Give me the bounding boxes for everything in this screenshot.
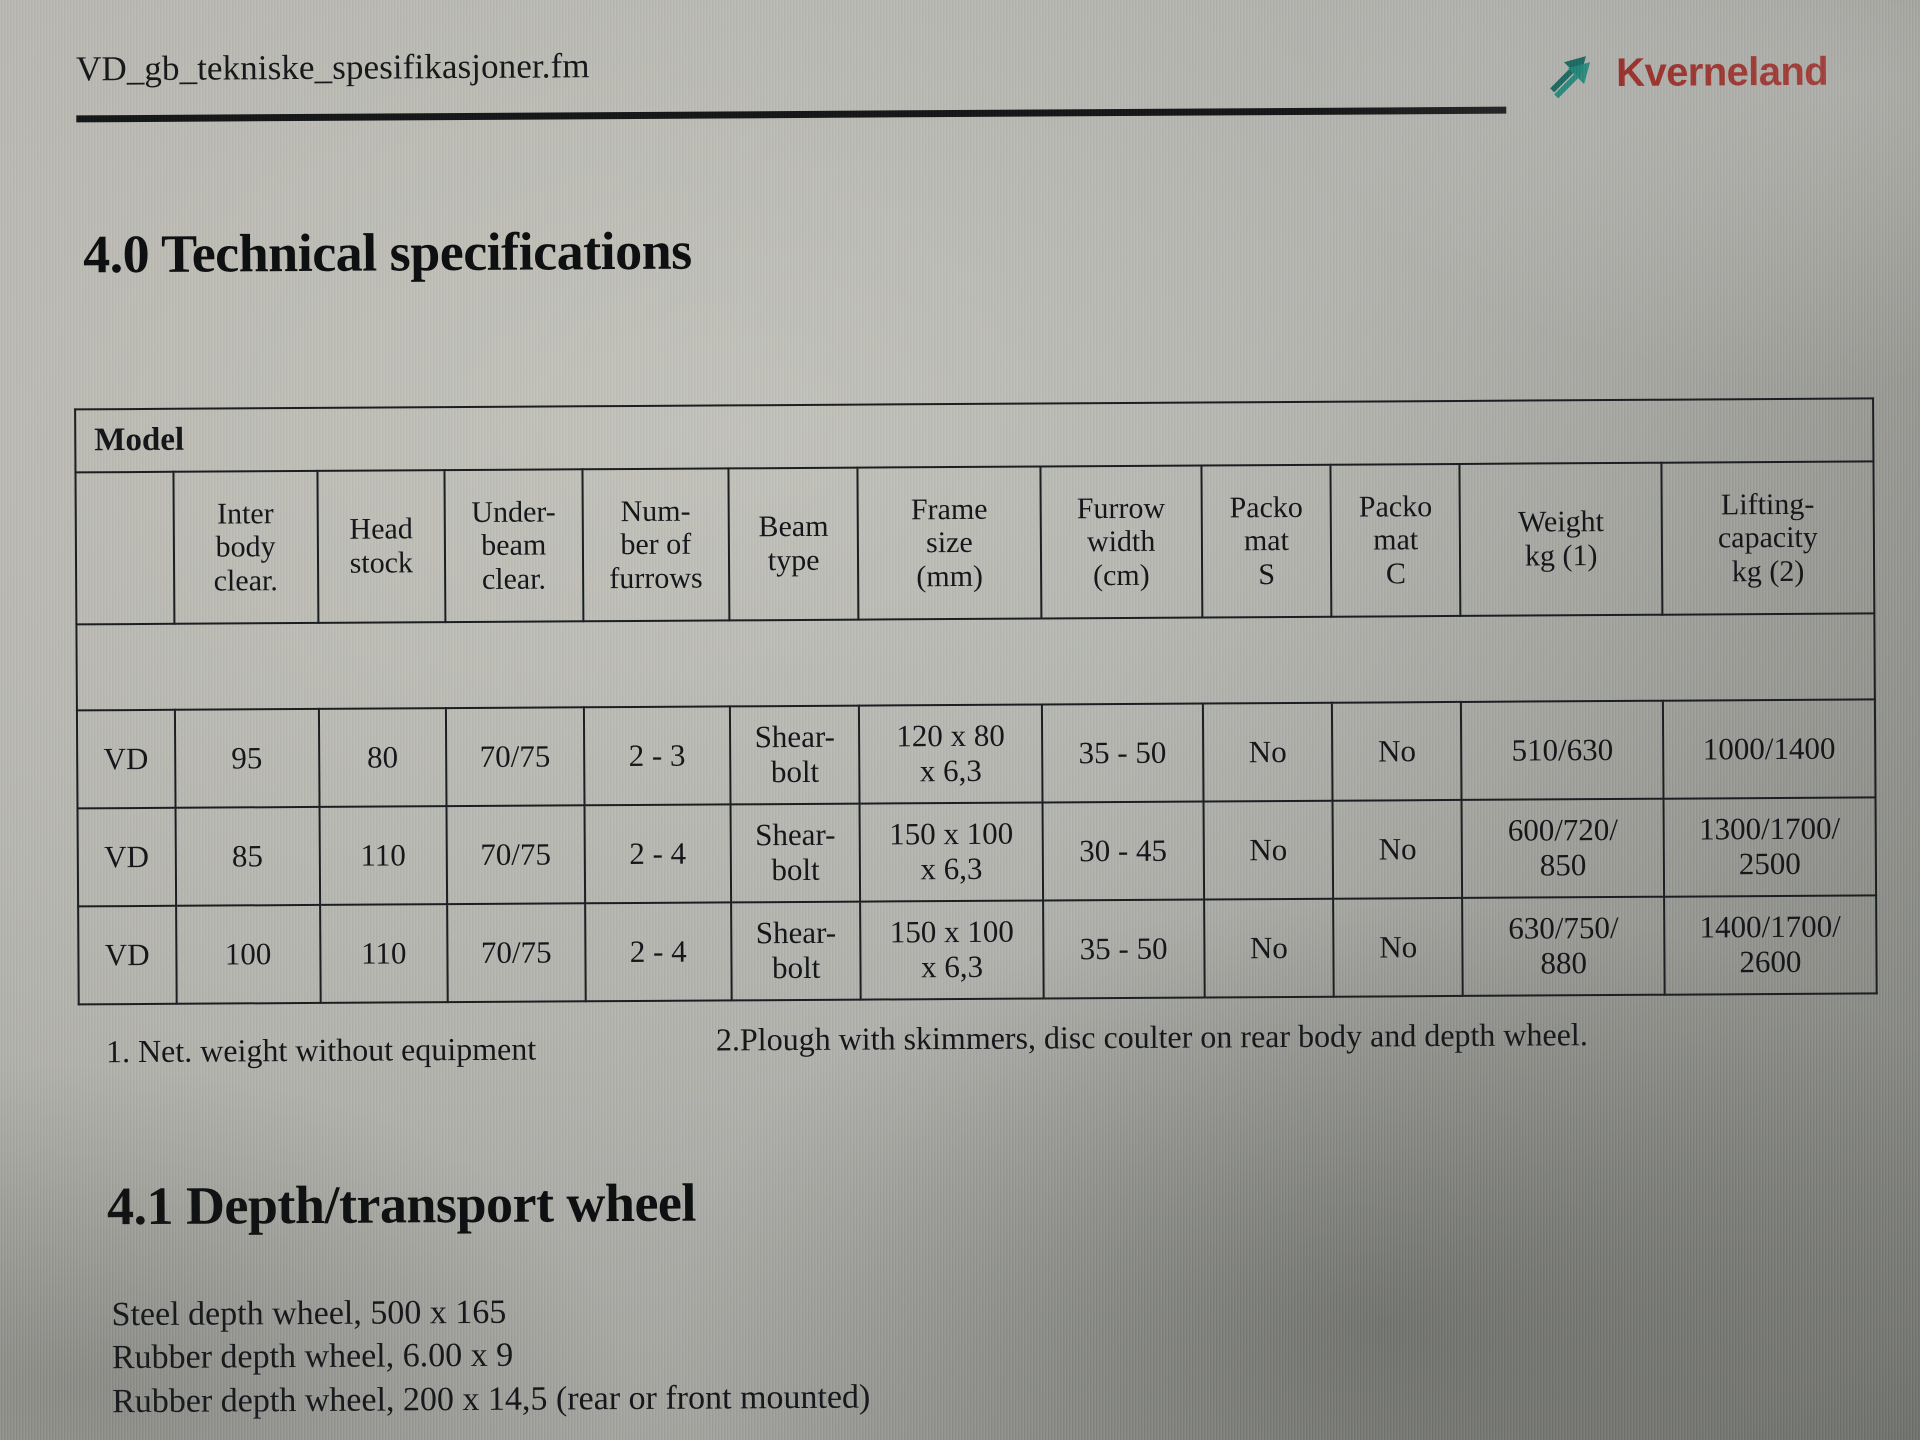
cell-line: 1300/1700/ (1666, 812, 1872, 848)
header-line: mat (1336, 523, 1456, 557)
header-line: width (1046, 525, 1197, 560)
cell-line: 150 x 100 (864, 915, 1041, 951)
cell-head-stock: 80 (319, 708, 447, 807)
section-heading-technical-specifications: 4.0 Technical specifications (83, 220, 692, 286)
cell-line: 2600 (1667, 944, 1873, 980)
cell-packo-mat-s: No (1204, 899, 1334, 998)
cell-inter-body-clear: 100 (176, 905, 321, 1004)
header-line: S (1207, 558, 1327, 592)
column-header-packo-mat-s: Packo mat S (1201, 465, 1331, 618)
cell-packo-mat-c: No (1333, 800, 1463, 899)
header-line: clear. (450, 562, 578, 596)
column-header-weight: Weight kg (1) (1460, 463, 1662, 616)
cell-beam-type: Shear- bolt (730, 706, 860, 805)
cell-lifting-capacity: 1300/1700/ 2500 (1663, 797, 1876, 896)
cell-beam-type: Shear- bolt (731, 804, 861, 903)
cell-model: VD (78, 906, 176, 1005)
table-model-label: Model (75, 398, 1873, 472)
header-line: type (734, 544, 854, 578)
cell-lifting-capacity: 1400/1700/ 2600 (1664, 895, 1877, 994)
cell-frame-size: 120 x 80 x 6,3 (859, 704, 1042, 803)
cell-packo-mat-c: No (1333, 898, 1463, 997)
header-line: C (1336, 557, 1456, 591)
column-header-number-of-furrows: Num- ber of furrows (582, 468, 729, 621)
table-row: VD 100 110 70/75 2 - 4 Shear- bolt 150 x… (78, 895, 1877, 1004)
list-item: Steel depth wheel, 500 x 165 (111, 1291, 869, 1335)
header-line: size (863, 526, 1036, 561)
header-line: Under- (450, 495, 578, 529)
header-line: Packo (1206, 490, 1326, 524)
header-line: Weight (1465, 505, 1657, 540)
kverneland-arrow-icon (1544, 42, 1606, 104)
cell-inter-body-clear: 85 (175, 807, 320, 906)
specifications-table: Model Inter body clear. Head stock Under… (74, 397, 1878, 1005)
column-header-under-beam-clear: Under- beam clear. (444, 469, 583, 622)
cell-line: 880 (1466, 946, 1662, 982)
table-model-row: Model (75, 398, 1873, 472)
document-content: VD_gb_tekniske_spesifikasjoner.fm Kverne… (0, 0, 1920, 1440)
brand-name: Kverneland (1616, 49, 1828, 95)
cell-line: 850 (1465, 848, 1661, 884)
section-heading-depth-transport-wheel: 4.1 Depth/transport wheel (107, 1172, 696, 1238)
cell-number-of-furrows: 2 - 4 (585, 902, 732, 1001)
header-line: body (178, 530, 312, 564)
cell-furrow-width: 35 - 50 (1042, 703, 1204, 802)
cell-weight: 600/720/ 850 (1462, 799, 1664, 898)
cell-line: bolt (733, 755, 857, 790)
cell-line: 1000/1400 (1666, 731, 1872, 767)
cell-frame-size: 150 x 100 x 6,3 (860, 802, 1043, 901)
header-line: furrows (588, 561, 724, 595)
cell-line: 1400/1700/ (1667, 910, 1873, 946)
header-line: beam (450, 528, 578, 562)
column-header-lifting-capacity: Lifting- capacity kg (2) (1661, 461, 1874, 614)
column-header-frame-size: Frame size (mm) (858, 466, 1041, 619)
cell-weight: 510/630 (1461, 701, 1663, 800)
cell-line: 120 x 80 (862, 719, 1039, 755)
footnote-1: 1. Net. weight without equipment (106, 1031, 536, 1071)
cell-line: 2500 (1667, 846, 1873, 882)
cell-packo-mat-s: No (1203, 801, 1333, 900)
cell-line: x 6,3 (863, 851, 1040, 887)
header-line: kg (1) (1465, 539, 1657, 574)
column-header-model (75, 472, 173, 625)
cell-line: 630/750/ (1466, 911, 1662, 947)
header-line: (cm) (1046, 558, 1197, 593)
cell-model: VD (77, 710, 175, 809)
cell-head-stock: 110 (319, 806, 447, 905)
cell-line: x 6,3 (863, 753, 1040, 789)
header-line: (mm) (863, 559, 1036, 594)
cell-head-stock: 110 (320, 904, 448, 1003)
cell-line: bolt (734, 951, 858, 986)
depth-wheel-list: Steel depth wheel, 500 x 165 Rubber dept… (111, 1291, 870, 1426)
column-header-inter-body-clear: Inter body clear. (173, 471, 318, 624)
cell-line: Shear- (733, 720, 857, 755)
header-line: Packo (1336, 490, 1456, 524)
list-item: Rubber depth wheel, 6.00 x 9 (112, 1334, 870, 1378)
cell-line: 600/720/ (1465, 813, 1661, 849)
table-header-row: Inter body clear. Head stock Under- beam… (75, 461, 1874, 624)
cell-under-beam-clear: 70/75 (446, 805, 584, 904)
cell-under-beam-clear: 70/75 (446, 707, 584, 806)
cell-number-of-furrows: 2 - 4 (584, 804, 731, 903)
cell-line: 150 x 100 (863, 817, 1040, 853)
cell-packo-mat-s: No (1203, 703, 1333, 802)
cell-beam-type: Shear- bolt (731, 902, 861, 1001)
cell-frame-size: 150 x 100 x 6,3 (860, 900, 1043, 999)
header-line: Beam (734, 510, 854, 544)
cell-lifting-capacity: 1000/1400 (1663, 699, 1876, 798)
list-item: Rubber depth wheel, 200 x 14,5 (rear or … (112, 1377, 870, 1421)
footnote-2: 2.Plough with skimmers, disc coulter on … (716, 1016, 1588, 1058)
cell-line: Shear- (734, 818, 858, 853)
table-spacer-row (76, 613, 1874, 710)
header-line: Head (322, 513, 439, 547)
cell-line: x 6,3 (864, 949, 1041, 985)
table-footnotes: 1. Net. weight without equipment 2.Ploug… (106, 1022, 1866, 1033)
header-line: Lifting- (1667, 487, 1869, 522)
header-line: capacity (1667, 521, 1869, 556)
cell-under-beam-clear: 70/75 (447, 903, 585, 1002)
table-row: VD 95 80 70/75 2 - 3 Shear- bolt 120 x 8… (77, 699, 1876, 808)
column-header-head-stock: Head stock (317, 470, 445, 623)
kverneland-logo: Kverneland (1544, 41, 1828, 105)
table-row: VD 85 110 70/75 2 - 4 Shear- bolt 150 x … (78, 797, 1877, 906)
cell-line: Shear- (734, 916, 858, 951)
cell-furrow-width: 30 - 45 (1042, 801, 1204, 900)
cell-model: VD (78, 808, 176, 907)
cell-number-of-furrows: 2 - 3 (584, 706, 731, 805)
cell-weight: 630/750/ 880 (1463, 897, 1665, 996)
column-header-beam-type: Beam type (728, 468, 858, 621)
header-line: stock (323, 546, 440, 580)
cell-furrow-width: 35 - 50 (1043, 899, 1205, 998)
header-line: Furrow (1045, 491, 1196, 526)
table-spacer-cell (76, 613, 1874, 710)
header-line: ber of (588, 528, 724, 562)
document-header: VD_gb_tekniske_spesifikasjoner.fm Kverne… (76, 39, 1856, 114)
column-header-packo-mat-c: Packo mat C (1331, 464, 1461, 617)
header-line: mat (1207, 524, 1327, 558)
header-line: clear. (179, 564, 313, 598)
header-line: Num- (587, 494, 723, 528)
cell-packo-mat-c: No (1332, 702, 1462, 801)
specifications-table-container: Model Inter body clear. Head stock Under… (74, 397, 1878, 1005)
cell-line: 510/630 (1465, 732, 1661, 768)
header-line: Inter (178, 497, 312, 531)
header-line: Frame (863, 492, 1036, 527)
column-header-furrow-width: Furrow width (cm) (1040, 465, 1202, 618)
cell-line: bolt (734, 853, 858, 888)
header-line: kg (2) (1667, 554, 1869, 589)
cell-inter-body-clear: 95 (174, 709, 319, 808)
